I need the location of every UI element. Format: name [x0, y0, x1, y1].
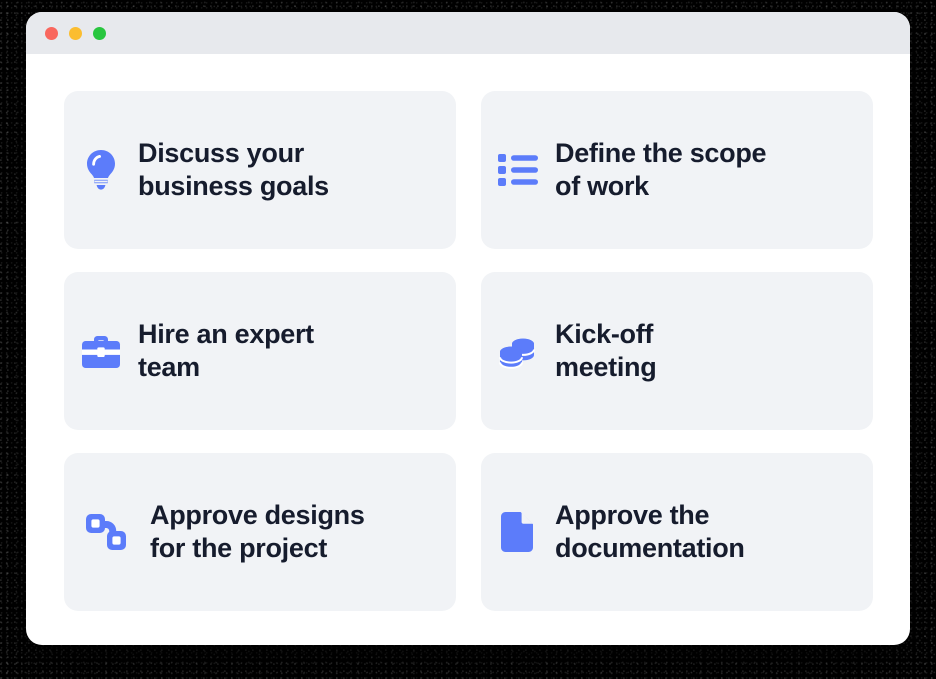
card-label: Discuss your business goals: [138, 137, 341, 204]
coins-stack-icon: [481, 331, 555, 371]
card-kick-off-meeting[interactable]: Kick-off meeting: [481, 272, 873, 430]
card-approve-documentation[interactable]: Approve the documentation: [481, 453, 873, 611]
minimize-button[interactable]: [69, 27, 82, 40]
window-titlebar: [26, 12, 910, 54]
card-label: Define the scope of work: [555, 137, 778, 204]
card-discuss-business-goals[interactable]: Discuss your business goals: [64, 91, 456, 249]
briefcase-icon: [64, 332, 138, 370]
card-label: Approve designs for the project: [150, 499, 377, 566]
card-define-scope-of-work[interactable]: Define the scope of work: [481, 91, 873, 249]
card-label: Hire an expert team: [138, 318, 326, 385]
lightbulb-icon: [64, 148, 138, 192]
bulleted-list-icon: [481, 153, 555, 187]
maximize-button[interactable]: [93, 27, 106, 40]
card-grid: Discuss your business goals Define the s…: [26, 54, 910, 635]
card-label: Approve the documentation: [555, 499, 757, 566]
close-button[interactable]: [45, 27, 58, 40]
card-label: Kick-off meeting: [555, 318, 668, 385]
document-icon: [481, 511, 555, 553]
shapes-connected-icon: [64, 511, 150, 553]
app-window: Discuss your business goals Define the s…: [26, 12, 910, 645]
card-hire-expert-team[interactable]: Hire an expert team: [64, 272, 456, 430]
card-approve-designs[interactable]: Approve designs for the project: [64, 453, 456, 611]
